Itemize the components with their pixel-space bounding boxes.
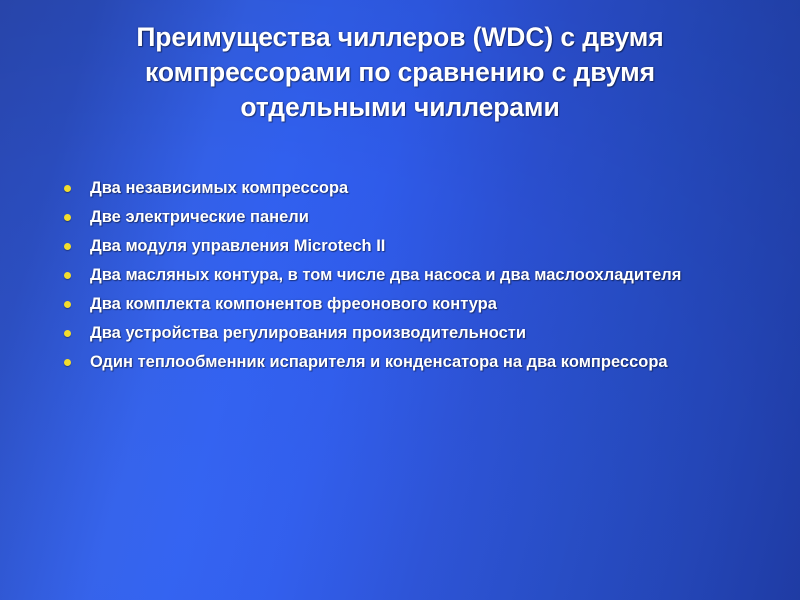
- bullet-dot-icon: [64, 301, 71, 308]
- list-item: Два модуля управления Microtech II: [64, 234, 754, 258]
- list-item-label: Два комплекта компонентов фреонового кон…: [90, 292, 754, 316]
- bullet-dot-icon: [64, 272, 71, 279]
- presentation-slide: Преимущества чиллеров (WDC) с двумя комп…: [0, 0, 800, 600]
- bullet-dot-icon: [64, 185, 71, 192]
- list-item-label: Один теплообменник испарителя и конденса…: [90, 350, 754, 374]
- list-item-label: Два независимых компрессора: [90, 176, 754, 200]
- list-item-label: Два устройства регулирования производите…: [90, 321, 754, 345]
- slide-title-line-1: Преимущества чиллеров (WDC) с двумя: [60, 20, 740, 55]
- slide-title-line-2: компрессорами по сравнению с двумя: [60, 55, 740, 90]
- bullet-dot-icon: [64, 243, 71, 250]
- list-item: Две электрические панели: [64, 205, 754, 229]
- list-item: Два устройства регулирования производите…: [64, 321, 754, 345]
- list-item-label: Два модуля управления Microtech II: [90, 234, 754, 258]
- bullet-dot-icon: [64, 359, 71, 366]
- list-item: Один теплообменник испарителя и конденса…: [64, 350, 754, 374]
- list-item-label: Две электрические панели: [90, 205, 754, 229]
- list-item: Два независимых компрессора: [64, 176, 754, 200]
- bullet-list: Два независимых компрессора Две электрич…: [64, 176, 754, 379]
- slide-title-line-3: отдельными чиллерами: [60, 90, 740, 125]
- bullet-dot-icon: [64, 330, 71, 337]
- list-item: Два масляных контура, в том числе два на…: [64, 263, 754, 287]
- slide-title: Преимущества чиллеров (WDC) с двумя комп…: [60, 20, 740, 125]
- list-item: Два комплекта компонентов фреонового кон…: [64, 292, 754, 316]
- list-item-label: Два масляных контура, в том числе два на…: [90, 263, 754, 287]
- bullet-dot-icon: [64, 214, 71, 221]
